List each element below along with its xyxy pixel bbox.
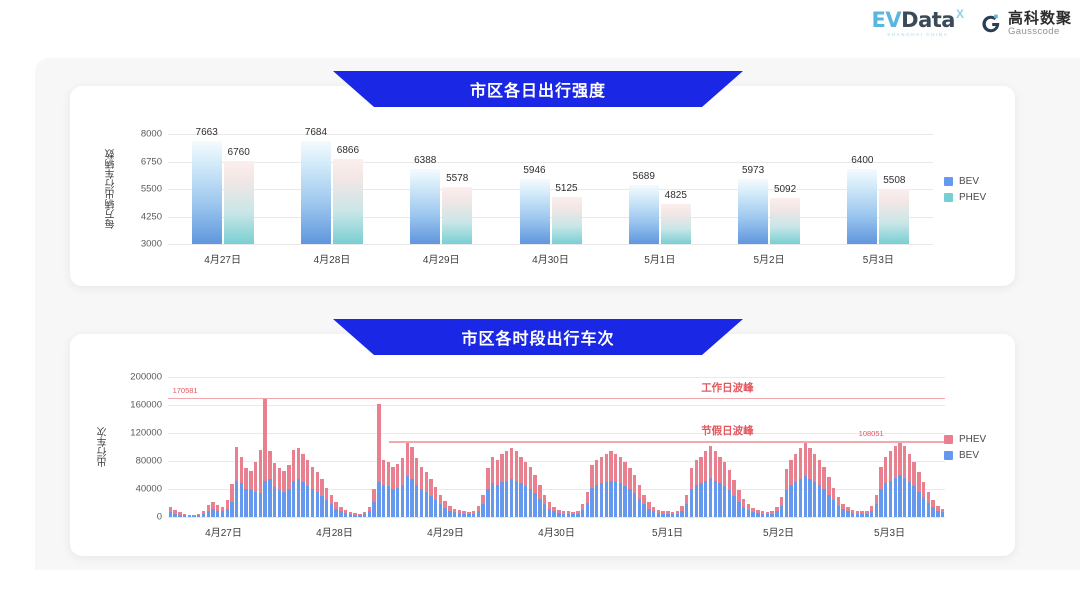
bar-phev: 5578 (442, 187, 472, 244)
gausscode-logo: 高科数聚 Gausscode (978, 11, 1072, 37)
stacked-bar (325, 488, 328, 517)
gridline (168, 134, 933, 135)
stacked-seg-bev (723, 486, 726, 517)
bar-value-label: 6400 (851, 155, 873, 166)
stacked-seg-phev (813, 454, 816, 482)
stacked-seg-bev (586, 503, 589, 517)
stacked-seg-bev (500, 482, 503, 517)
stacked-seg-phev (912, 462, 915, 486)
stacked-bar (524, 462, 527, 517)
stacked-seg-phev (818, 460, 821, 485)
stacked-bar (519, 457, 522, 517)
stacked-seg-phev (391, 467, 394, 489)
stacked-seg-phev (619, 457, 622, 484)
y-axis-tick-label: 120000 (130, 428, 162, 439)
stacked-seg-bev (609, 481, 612, 517)
stacked-bar (898, 441, 901, 517)
stacked-seg-bev (633, 493, 636, 517)
stacked-seg-phev (287, 465, 290, 489)
stacked-seg-bev (756, 513, 759, 517)
stacked-bar (557, 510, 560, 517)
stacked-bar (273, 463, 276, 517)
stacked-seg-phev (254, 462, 257, 491)
stacked-bar (353, 513, 356, 517)
stacked-bar (320, 479, 323, 517)
stacked-seg-phev (600, 457, 603, 484)
stacked-bar (756, 510, 759, 517)
stacked-seg-bev (851, 513, 854, 517)
stacked-seg-bev (287, 489, 290, 517)
stacked-seg-phev (306, 460, 309, 485)
gridline (168, 405, 945, 406)
stacked-seg-bev (448, 511, 451, 517)
stacked-seg-bev (870, 511, 873, 517)
stacked-bar (311, 467, 314, 517)
stacked-bar (770, 511, 773, 517)
stacked-bar (590, 465, 593, 517)
stacked-seg-bev (382, 485, 385, 517)
stacked-seg-phev (330, 495, 333, 505)
bar-phev: 5508 (879, 189, 909, 244)
stacked-bar (453, 509, 456, 517)
stacked-bar (443, 501, 446, 517)
stacked-bar (609, 451, 612, 517)
bar-value-label: 4825 (665, 190, 687, 201)
stacked-seg-bev (391, 489, 394, 517)
stacked-bar (742, 499, 745, 517)
stacked-seg-bev (728, 490, 731, 517)
stacked-bar (737, 490, 740, 517)
stacked-bar (538, 485, 541, 517)
stacked-seg-bev (595, 485, 598, 517)
stacked-seg-bev (486, 489, 489, 517)
stacked-seg-bev (230, 502, 233, 517)
stacked-bar (642, 495, 645, 517)
stacked-seg-bev (254, 492, 257, 517)
stacked-bar (647, 502, 650, 517)
stacked-seg-bev (846, 511, 849, 517)
stacked-seg-bev (363, 514, 366, 517)
stacked-bar (297, 448, 300, 517)
bar-bev: 5973 (738, 179, 768, 244)
stacked-seg-phev (496, 460, 499, 485)
stacked-bar (491, 457, 494, 517)
stacked-seg-phev (633, 475, 636, 493)
stacked-seg-phev (420, 467, 423, 489)
stacked-seg-bev (226, 509, 229, 517)
stacked-seg-bev (927, 503, 930, 517)
stacked-bar (856, 511, 859, 517)
stacked-bar (282, 471, 285, 517)
x-axis-tick-label: 5月1日 (644, 251, 675, 266)
bar-phev: 4825 (661, 204, 691, 244)
stacked-bar (813, 454, 816, 517)
stacked-seg-bev (775, 511, 778, 517)
stacked-seg-phev (931, 500, 934, 508)
stacked-seg-bev (894, 478, 897, 517)
stacked-seg-bev (917, 492, 920, 517)
stacked-bar (188, 515, 191, 517)
stacked-bar (439, 495, 442, 517)
stacked-bar (860, 511, 863, 517)
stacked-bar (425, 472, 428, 517)
stacked-seg-phev (529, 467, 532, 489)
bar-value-label: 7684 (305, 127, 327, 138)
stacked-seg-phev (742, 499, 745, 507)
stacked-seg-bev (818, 485, 821, 517)
stacked-seg-bev (372, 502, 375, 517)
stacked-seg-phev (889, 451, 892, 480)
stacked-seg-bev (865, 514, 868, 517)
y-axis-tick-label: 80000 (136, 456, 162, 467)
stacked-bar (586, 492, 589, 517)
stacked-seg-phev (425, 472, 428, 492)
evdata-ev-part: EV (872, 8, 902, 32)
stacked-seg-phev (524, 462, 527, 486)
hourly-trips-legend: PHEVBEV (944, 434, 986, 461)
stacked-seg-bev (183, 515, 186, 517)
stacked-seg-phev (263, 398, 266, 481)
stacked-bar (249, 471, 252, 517)
y-axis-tick-label: 5500 (141, 184, 162, 195)
annotation-label: 节假日波峰 (701, 423, 754, 438)
x-axis-tick-label: 5月1日 (652, 524, 683, 539)
stacked-bar (316, 472, 319, 517)
bar-value-label: 5946 (523, 165, 545, 176)
stacked-seg-phev (832, 488, 835, 501)
stacked-seg-bev (529, 489, 532, 517)
legend-swatch (944, 177, 953, 186)
stacked-bar (410, 447, 413, 517)
stacked-seg-phev (429, 479, 432, 496)
stacked-bar (931, 500, 934, 518)
stacked-seg-bev (571, 514, 574, 517)
stacked-seg-bev (491, 483, 494, 517)
stacked-seg-bev (879, 489, 882, 517)
stacked-seg-phev (510, 448, 513, 479)
stacked-seg-phev (927, 492, 930, 503)
stacked-seg-bev (600, 483, 603, 517)
stacked-seg-phev (320, 479, 323, 496)
stacked-seg-phev (543, 495, 546, 505)
bar-bev: 6388 (410, 169, 440, 244)
stacked-seg-bev (406, 476, 409, 517)
stacked-seg-bev (714, 481, 717, 517)
evdata-wordmark: EVData X (872, 10, 964, 31)
stacked-bar (221, 507, 224, 518)
stacked-seg-phev (491, 457, 494, 484)
gridline (168, 433, 945, 434)
stacked-seg-bev (562, 514, 565, 517)
stacked-bar (936, 506, 939, 517)
stacked-bar (462, 511, 465, 517)
legend-label: PHEV (959, 192, 986, 203)
stacked-bar (548, 502, 551, 517)
stacked-bar (657, 510, 660, 517)
stacked-seg-phev (406, 441, 409, 476)
stacked-seg-bev (496, 485, 499, 517)
stacked-bar (619, 457, 622, 517)
stacked-bar (230, 484, 233, 517)
stacked-seg-bev (732, 496, 735, 517)
y-axis-tick-label: 4250 (141, 211, 162, 222)
stacked-seg-bev (330, 504, 333, 517)
stacked-bar (372, 489, 375, 517)
stacked-seg-bev (884, 483, 887, 517)
stacked-seg-bev (628, 489, 631, 517)
stacked-seg-phev (794, 454, 797, 482)
stacked-seg-bev (875, 504, 878, 517)
stacked-seg-bev (605, 482, 608, 517)
stacked-bar (500, 454, 503, 517)
stacked-seg-bev (259, 493, 262, 517)
stacked-bar (292, 450, 295, 517)
stacked-bar (780, 497, 783, 517)
stacked-bar (268, 451, 271, 517)
stacked-seg-bev (325, 500, 328, 517)
stacked-bar (785, 469, 788, 517)
stacked-seg-bev (268, 479, 271, 517)
stacked-seg-bev (567, 514, 570, 517)
hourly-trips-plot-area: 04000080000120000160000200000出行车次4月27日4月… (168, 377, 945, 517)
stacked-bar (207, 505, 210, 517)
bar-phev: 6760 (224, 161, 254, 244)
bar-bev: 5946 (520, 179, 550, 244)
stacked-seg-bev (462, 514, 465, 517)
legend-swatch (944, 193, 953, 202)
stacked-seg-phev (434, 487, 437, 500)
stacked-seg-phev (515, 451, 518, 480)
stacked-seg-bev (216, 511, 219, 517)
stacked-seg-phev (401, 458, 404, 485)
stacked-bar (870, 506, 873, 517)
stacked-seg-bev (297, 479, 300, 517)
stacked-seg-phev (316, 472, 319, 492)
stacked-seg-bev (524, 486, 527, 517)
bar-bev: 7684 (301, 141, 331, 244)
stacked-seg-phev (387, 462, 390, 486)
stacked-seg-phev (690, 468, 693, 489)
stacked-bar (552, 507, 555, 517)
stacked-seg-bev (519, 483, 522, 517)
stacked-seg-phev (780, 497, 783, 505)
stacked-bar (387, 462, 390, 517)
stacked-bar (818, 460, 821, 517)
stacked-bar (571, 512, 574, 517)
gridline (168, 244, 933, 245)
gridline (168, 162, 933, 163)
stacked-seg-bev (401, 485, 404, 517)
stacked-bar (889, 451, 892, 517)
legend-item-bev: BEV (944, 450, 986, 461)
stacked-seg-phev (235, 447, 238, 481)
stacked-seg-phev (500, 454, 503, 482)
stacked-seg-bev (695, 485, 698, 517)
stacked-seg-bev (614, 482, 617, 517)
stacked-seg-phev (808, 448, 811, 479)
stacked-bar (690, 468, 693, 517)
stacked-seg-phev (292, 450, 295, 481)
stacked-bar (723, 462, 726, 517)
stacked-bar (761, 511, 764, 517)
evdata-tagline: SHANGHAI CHINA (887, 33, 948, 38)
stacked-seg-bev (472, 514, 475, 517)
stacked-bar (695, 460, 698, 517)
stacked-seg-phev (737, 490, 740, 502)
stacked-bar (704, 451, 707, 517)
legend-item-phev: PHEV (944, 192, 986, 203)
stacked-bar (254, 462, 257, 517)
stacked-bar (837, 497, 840, 517)
stacked-seg-phev (590, 465, 593, 487)
stacked-bar (595, 460, 598, 517)
stacked-bar (875, 495, 878, 517)
y-axis-tick-label: 3000 (141, 239, 162, 250)
stacked-seg-phev (785, 469, 788, 490)
stacked-bar (846, 507, 849, 517)
stacked-seg-bev (235, 481, 238, 517)
stacked-bar (391, 467, 394, 517)
stacked-seg-bev (207, 511, 210, 517)
stacked-seg-phev (244, 468, 247, 489)
stacked-seg-bev (434, 500, 437, 517)
stacked-seg-bev (931, 507, 934, 517)
stacked-seg-phev (282, 471, 285, 492)
stacked-bar (685, 495, 688, 517)
stacked-seg-phev (799, 448, 802, 479)
stacked-seg-bev (533, 493, 536, 517)
stacked-bar (614, 454, 617, 517)
stacked-bar (661, 511, 664, 517)
stacked-seg-phev (609, 451, 612, 480)
stacked-bar (879, 467, 882, 517)
stacked-bar (832, 488, 835, 517)
bar-phev: 5125 (552, 197, 582, 244)
stacked-bar (903, 446, 906, 517)
stacked-bar (301, 454, 304, 517)
bar-value-label: 5578 (446, 173, 468, 184)
y-axis-tick-label: 200000 (130, 372, 162, 383)
stacked-bar (666, 511, 669, 517)
brand-logo-bar: EVData X SHANGHAI CHINA 高科数聚 Gausscode (872, 10, 1072, 38)
stacked-seg-phev (894, 446, 897, 478)
stacked-bar (827, 477, 830, 517)
stacked-seg-phev (623, 462, 626, 486)
stacked-bar (477, 506, 480, 517)
stacked-seg-bev (576, 514, 579, 517)
stacked-seg-bev (173, 514, 176, 518)
stacked-seg-bev (709, 478, 712, 517)
gausscode-text: 高科数聚 Gausscode (1008, 11, 1072, 37)
stacked-seg-bev (552, 511, 555, 517)
stacked-seg-phev (259, 450, 262, 493)
stacked-bar (799, 448, 802, 517)
stacked-seg-bev (358, 515, 361, 517)
stacked-seg-bev (202, 514, 205, 517)
y-axis-tick-label: 8000 (141, 129, 162, 140)
stacked-bar (306, 460, 309, 517)
x-axis-tick-label: 4月29日 (427, 524, 464, 539)
stacked-bar (458, 510, 461, 517)
stacked-bar (699, 457, 702, 517)
stacked-bar (600, 457, 603, 517)
stacked-seg-phev (879, 467, 882, 489)
legend-swatch (944, 435, 953, 444)
legend-item-phev: PHEV (944, 434, 986, 445)
stacked-bar (287, 465, 290, 517)
stacked-seg-bev (789, 485, 792, 517)
stacked-seg-phev (709, 446, 712, 478)
stacked-bar (908, 454, 911, 517)
stacked-seg-bev (538, 499, 541, 517)
stacked-bar (358, 514, 361, 518)
stacked-seg-bev (804, 476, 807, 517)
stacked-bar (671, 512, 674, 517)
stacked-seg-bev (188, 516, 191, 517)
stacked-bar (680, 506, 683, 517)
bar-value-label: 5689 (633, 171, 655, 182)
stacked-seg-bev (922, 497, 925, 517)
stacked-seg-bev (510, 479, 513, 517)
stacked-seg-phev (519, 457, 522, 484)
stacked-seg-bev (856, 514, 859, 517)
stacked-seg-bev (415, 485, 418, 517)
stacked-seg-bev (657, 513, 660, 517)
stacked-seg-phev (273, 463, 276, 487)
stacked-seg-phev (372, 489, 375, 502)
stacked-seg-bev (410, 479, 413, 517)
peak-value-label: 108051 (859, 429, 884, 438)
stacked-seg-bev (785, 490, 788, 517)
stacked-bar (709, 446, 712, 517)
stacked-seg-phev (595, 460, 598, 485)
stacked-bar (415, 458, 418, 517)
x-axis-tick-label: 5月2日 (754, 251, 785, 266)
bar-phev: 6866 (333, 159, 363, 244)
stacked-seg-bev (467, 514, 470, 517)
stacked-seg-bev (273, 487, 276, 517)
legend-label: BEV (959, 176, 979, 187)
stacked-bar (676, 511, 679, 517)
x-axis-tick-label: 4月28日 (314, 251, 351, 266)
evdata-word: EVData (872, 10, 955, 31)
stacked-bar (263, 398, 266, 517)
stacked-seg-phev (605, 454, 608, 482)
gridline (168, 461, 945, 462)
stacked-seg-bev (349, 514, 352, 517)
stacked-seg-phev (301, 454, 304, 482)
stacked-seg-bev (249, 490, 252, 517)
stacked-bar (766, 512, 769, 517)
stacked-bar (382, 460, 385, 517)
stacked-bar (922, 482, 925, 517)
gridline (168, 377, 945, 378)
stacked-seg-bev (282, 492, 285, 517)
stacked-bar (183, 514, 186, 517)
bar-bev: 5689 (629, 185, 659, 244)
stacked-seg-bev (306, 486, 309, 517)
stacked-bar (633, 475, 636, 517)
stacked-seg-bev (832, 500, 835, 517)
stacked-bar (173, 510, 176, 517)
stacked-bar (448, 506, 451, 517)
gausscode-g-mark-icon (978, 12, 1002, 36)
stacked-seg-phev (922, 482, 925, 497)
stacked-seg-phev (685, 495, 688, 505)
stacked-seg-bev (685, 504, 688, 517)
stacked-seg-bev (458, 513, 461, 517)
stacked-bar (363, 512, 366, 517)
